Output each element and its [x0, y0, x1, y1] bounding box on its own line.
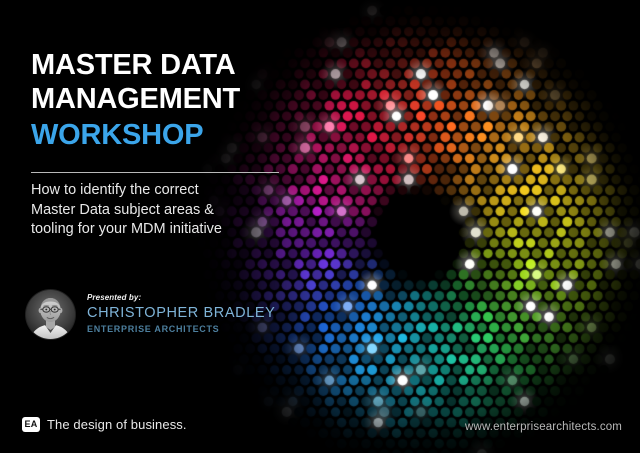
title-divider-rule [31, 172, 279, 173]
title-line-2: MANAGEMENT [31, 82, 301, 116]
subtitle-line-1: How to identify the correct [31, 181, 293, 201]
slide-content: MASTER DATA MANAGEMENT WORKSHOP How to i… [0, 0, 640, 453]
subtitle-line-2: Master Data subject areas & [31, 201, 293, 221]
ea-logo-icon: EA [22, 417, 40, 432]
presenter-organisation: ENTERPRISE ARCHITECTS [87, 324, 219, 334]
slide-title: MASTER DATA MANAGEMENT WORKSHOP [31, 48, 301, 152]
portrait-photo-icon [26, 290, 75, 339]
presented-by-label: Presented by: [87, 293, 141, 302]
footer-tagline: The design of business. [47, 417, 187, 432]
presenter-block: Presented by: CHRISTOPHER BRADLEY ENTERP… [22, 288, 252, 352]
avatar [26, 290, 75, 339]
slide-subtitle: How to identify the correct Master Data … [31, 181, 293, 240]
title-line-3-workshop: WORKSHOP [31, 118, 301, 152]
presenter-name: CHRISTOPHER BRADLEY [87, 305, 275, 321]
title-line-1: MASTER DATA [31, 48, 301, 82]
footer-url: www.enterprisearchitects.com [465, 421, 622, 433]
footer-brand: EAThe design of business. [22, 416, 187, 438]
presentation-slide: MASTER DATA MANAGEMENT WORKSHOP How to i… [0, 0, 640, 453]
subtitle-line-3: tooling for your MDM initiative [31, 220, 293, 240]
